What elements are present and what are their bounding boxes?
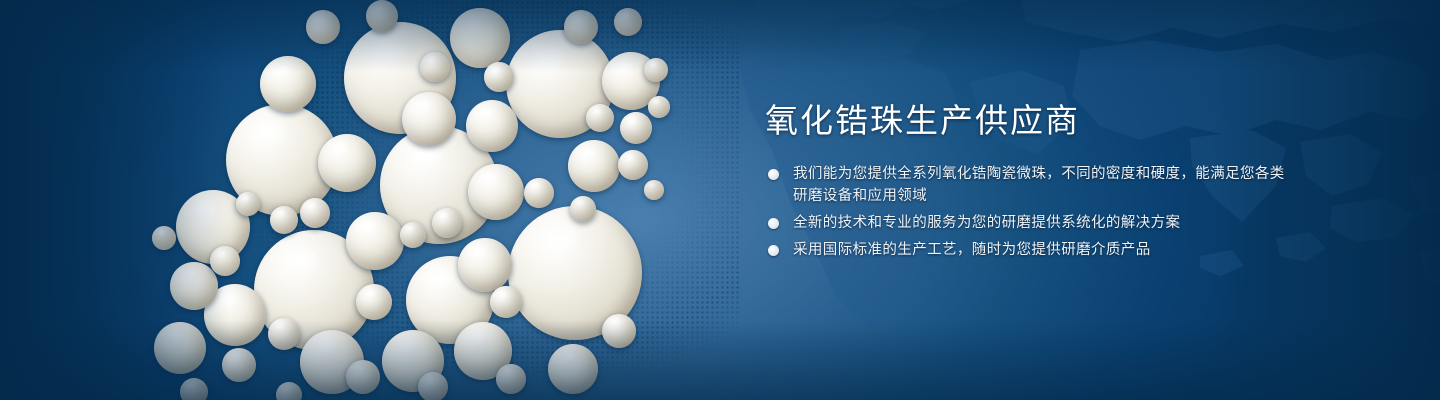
- list-item-label: 采用国际标准的生产工艺，随时为您提供研磨介质产品: [793, 239, 1285, 261]
- feature-list: 我们能为您提供全系列氧化锆陶瓷微珠，不同的密度和硬度，能满足您各类研磨设备和应用…: [765, 163, 1285, 261]
- bullet-dot-icon: [768, 218, 779, 229]
- page-title: 氧化锆珠生产供应商: [765, 104, 1285, 137]
- bullet-dot-icon: [768, 245, 779, 256]
- hero-banner: 氧化锆珠生产供应商 我们能为您提供全系列氧化锆陶瓷微珠，不同的密度和硬度，能满足…: [0, 0, 1440, 400]
- bullet-dot-icon: [768, 169, 779, 180]
- banner-copy: 氧化锆珠生产供应商 我们能为您提供全系列氧化锆陶瓷微珠，不同的密度和硬度，能满足…: [765, 104, 1285, 266]
- list-item: 我们能为您提供全系列氧化锆陶瓷微珠，不同的密度和硬度，能满足您各类研磨设备和应用…: [765, 163, 1285, 207]
- list-item-label: 我们能为您提供全系列氧化锆陶瓷微珠，不同的密度和硬度，能满足您各类研磨设备和应用…: [793, 163, 1285, 207]
- list-item: 采用国际标准的生产工艺，随时为您提供研磨介质产品: [765, 239, 1285, 261]
- list-item: 全新的技术和专业的服务为您的研磨提供系统化的解决方案: [765, 212, 1285, 234]
- list-item-label: 全新的技术和专业的服务为您的研磨提供系统化的解决方案: [793, 212, 1285, 234]
